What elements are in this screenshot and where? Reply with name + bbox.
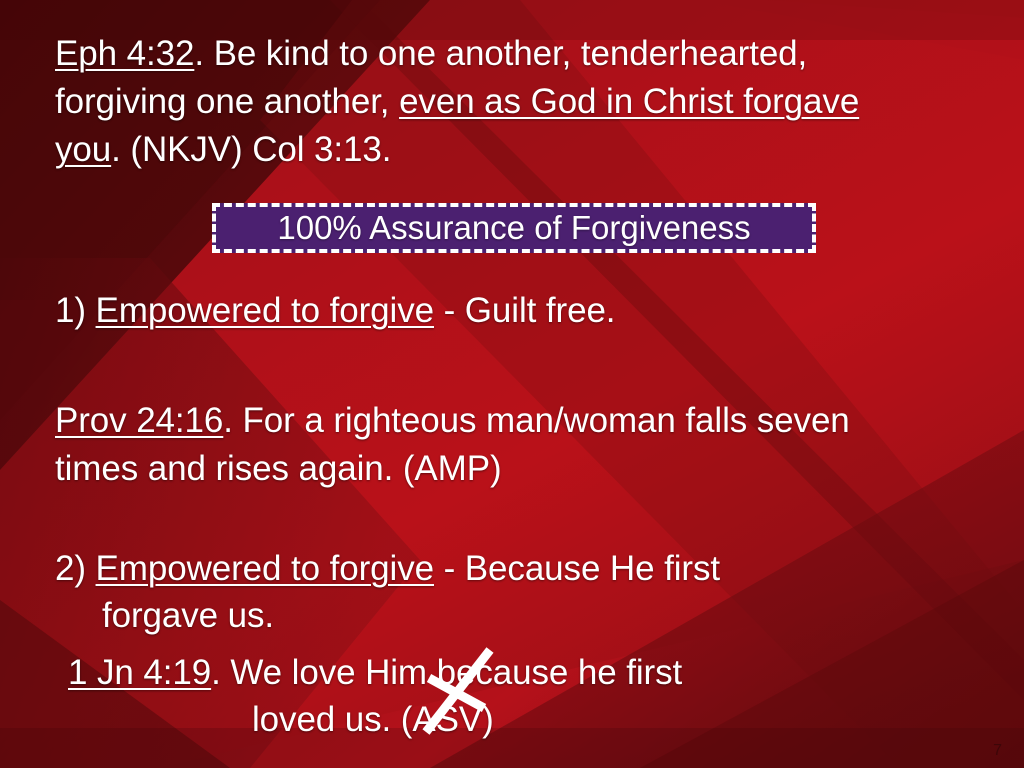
eph-line-3-text: . (NKJV) Col 3:13. <box>111 130 391 169</box>
prov-verse-line-2: times and rises again. (AMP) <box>55 451 502 486</box>
eph-line-2-underlined: even as God in Christ forgave <box>399 82 859 121</box>
point-2-number: 2) <box>55 549 96 588</box>
john-verse-line-1: 1 Jn 4:19. We love Him because he first <box>68 655 682 690</box>
eph-verse-line-3: you. (NKJV) Col 3:13. <box>55 132 391 167</box>
point-2-rest: - Because He first <box>434 549 720 588</box>
point-2-line-2: forgave us. <box>102 598 274 633</box>
callout-label: 100% Assurance of Forgiveness <box>277 209 750 247</box>
eph-verse-line-2: forgiving one another, even as God in Ch… <box>55 84 859 119</box>
point-1-underlined: Empowered to forgive <box>96 291 434 330</box>
point-1: 1) Empowered to forgive - Guilt free. <box>55 293 615 328</box>
prov-verse-line-1: Prov 24:16. For a righteous man/woman fa… <box>55 403 850 438</box>
eph-verse-line-1: Eph 4:32. Be kind to one another, tender… <box>55 36 807 71</box>
page-number: 7 <box>993 742 1002 760</box>
point-1-number: 1) <box>55 291 96 330</box>
john-line-1-text: . We love Him because he first <box>211 653 682 692</box>
point-2-underlined: Empowered to forgive <box>96 549 434 588</box>
john-reference: 1 Jn 4:19 <box>68 653 211 692</box>
eph-line-3-underlined: you <box>55 130 111 169</box>
eph-line-2-plain: forgiving one another, <box>55 82 399 121</box>
john-verse-line-2: loved us. (ASV) <box>252 702 494 737</box>
eph-reference: Eph 4:32 <box>55 34 194 73</box>
point-1-rest: - Guilt free. <box>434 291 615 330</box>
presentation-slide: 100% Assurance of Forgiveness Eph 4:32. … <box>0 0 1024 768</box>
prov-line-1-text: . For a righteous man/woman falls seven <box>223 401 849 440</box>
point-2: 2) Empowered to forgive - Because He fir… <box>55 551 720 586</box>
prov-reference: Prov 24:16 <box>55 401 223 440</box>
eph-line-1-text: . Be kind to one another, tenderhearted, <box>194 34 807 73</box>
assurance-callout-box: 100% Assurance of Forgiveness <box>212 203 816 253</box>
slide-text-content: Eph 4:32. Be kind to one another, tender… <box>0 0 1024 768</box>
